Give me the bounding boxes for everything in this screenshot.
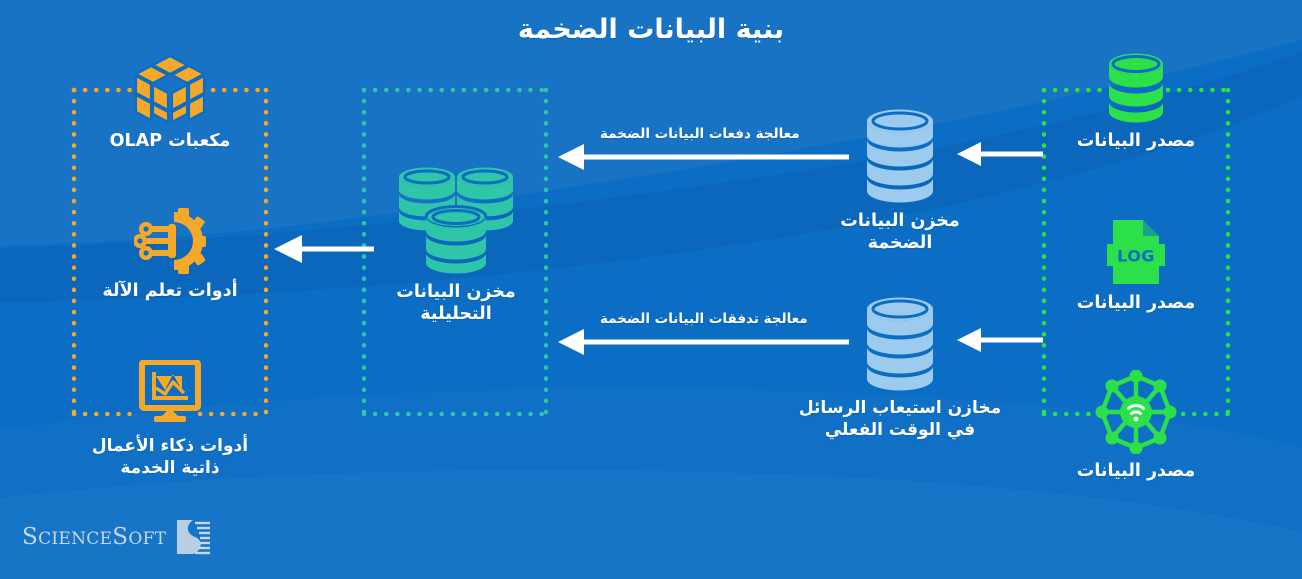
- analytical-store-label: مخزن البيانات التحليلية: [368, 281, 544, 326]
- logo-s1: S: [22, 524, 38, 550]
- logo-s2: S: [112, 524, 128, 550]
- svg-text:LOG: LOG: [1117, 247, 1155, 266]
- diagram-canvas: بنية البيانات الضخمة: [0, 0, 1302, 579]
- arrow-label-batch-processing: معالجة دفعات البيانات الضخمة: [600, 126, 800, 142]
- database-cylinder-icon: [1105, 52, 1167, 124]
- store-label-big-data: مخزن البيانات الضخمة: [810, 210, 990, 255]
- analytical-store-node[interactable]: مخزن البيانات التحليلية: [368, 163, 544, 326]
- store-node-realtime[interactable]: مخازن استيعاب الرسائل في الوقت الفعلي: [795, 296, 1005, 442]
- source-label-log: مصدر البيانات: [1046, 292, 1226, 314]
- three-cylinders-icon: [391, 163, 521, 275]
- arrow-stream-processing: [556, 328, 851, 356]
- logo-oft: OFT: [128, 529, 166, 549]
- consumer-label-bi: أدوات ذكاء الأعمال ذاتية الخدمة: [75, 436, 265, 480]
- arrow-source-to-batch-store: [955, 140, 1045, 168]
- source-label-iot: مصدر البيانات: [1046, 460, 1226, 482]
- database-stack-icon: [861, 108, 939, 204]
- arrow-batch-processing: [556, 143, 851, 171]
- arrow-analytical-to-consumers: [272, 235, 376, 263]
- consumer-label-olap: مكعبات OLAP: [80, 130, 260, 152]
- source-node-database[interactable]: مصدر البيانات: [1046, 52, 1226, 152]
- sciencesoft-logo-mark: [175, 518, 211, 556]
- database-stack-icon: [861, 296, 939, 392]
- consumer-label-ml: أدوات تعلم الآلة: [80, 280, 260, 302]
- iot-network-icon: [1094, 370, 1178, 454]
- consumer-node-olap[interactable]: مكعبات OLAP: [80, 52, 260, 152]
- sciencesoft-logo-text: SCIENCESOFT: [22, 524, 166, 550]
- store-label-realtime: مخازن استيعاب الرسائل في الوقت الفعلي: [795, 398, 1005, 442]
- arrow-label-stream-processing: معالجة تدفقات البيانات الضخمة: [600, 311, 808, 327]
- source-node-iot[interactable]: مصدر البيانات: [1046, 370, 1226, 482]
- gear-circuit-icon: [134, 208, 206, 274]
- consumer-node-bi[interactable]: أدوات ذكاء الأعمال ذاتية الخدمة: [75, 360, 265, 480]
- source-node-log[interactable]: LOG مصدر البيانات: [1046, 218, 1226, 314]
- cube-icon: [134, 52, 206, 124]
- logo-cience: CIENCE: [38, 529, 112, 549]
- source-label-database: مصدر البيانات: [1046, 130, 1226, 152]
- arrow-source-to-stream-store: [955, 326, 1045, 354]
- store-node-big-data[interactable]: مخزن البيانات الضخمة: [810, 108, 990, 255]
- consumer-node-ml[interactable]: أدوات تعلم الآلة: [80, 208, 260, 302]
- sciencesoft-logo: SCIENCESOFT: [22, 518, 211, 556]
- monitor-chart-icon: [132, 360, 208, 430]
- log-file-icon: LOG: [1107, 218, 1165, 286]
- page-title: بنية البيانات الضخمة: [0, 14, 1302, 45]
